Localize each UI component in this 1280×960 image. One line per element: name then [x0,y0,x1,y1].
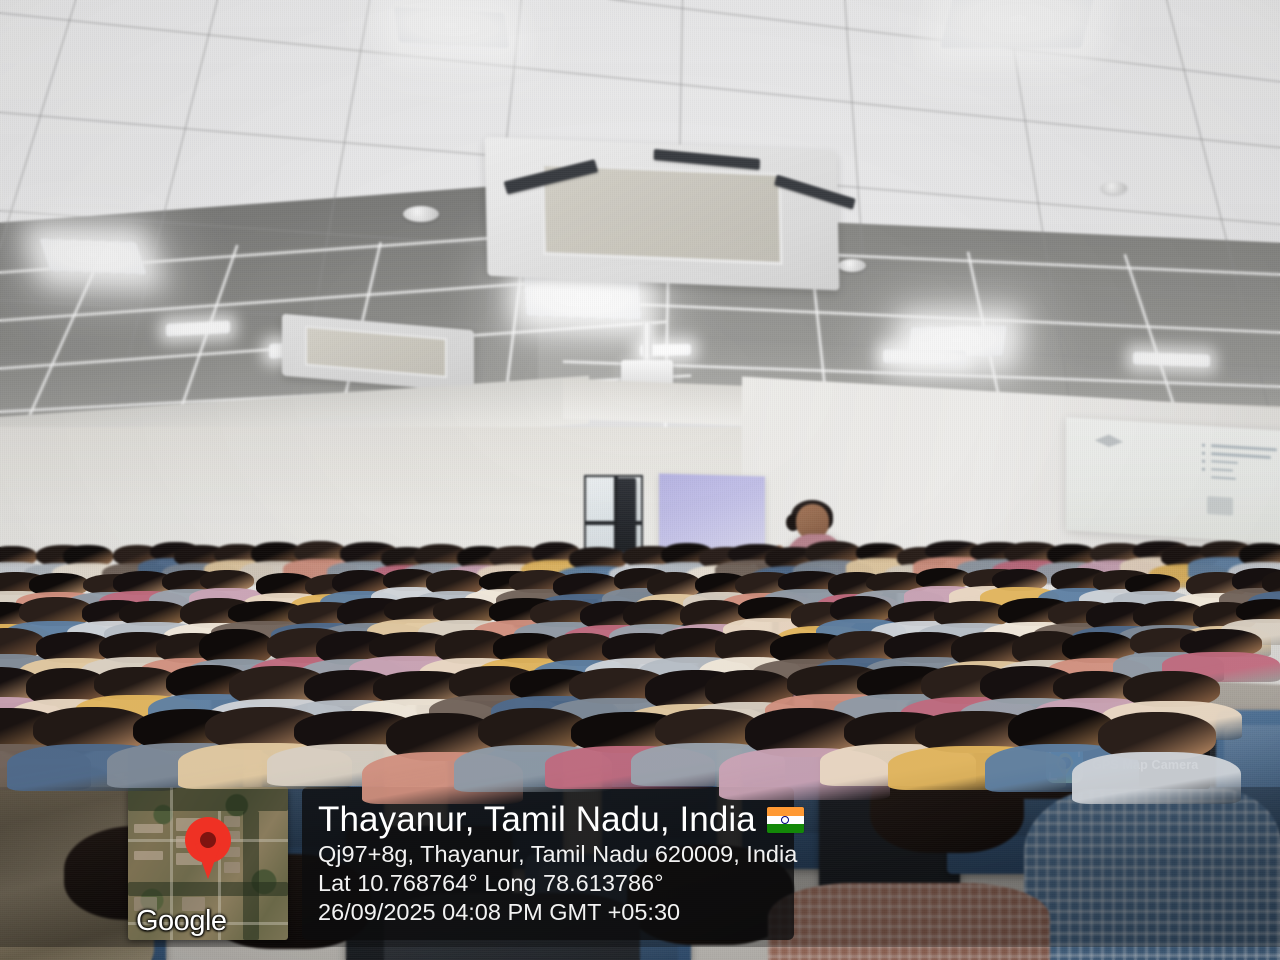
projection-screen-right [1066,417,1280,544]
location-title-row: Thayanur, Tamil Nadu, India [318,800,778,840]
location-address: Qj97+8g, Thayanur, Tamil Nadu 620009, In… [318,840,778,869]
attendee-plaid-shirt [1024,787,1280,960]
map-thumbnail[interactable]: Google [128,787,288,940]
gps-location-stamp: Google Thayanur, Tamil Nadu, India Qj97+… [128,787,794,940]
location-coordinates: Lat 10.768764° Long 78.613786° [318,869,778,898]
location-title: Thayanur, Tamil Nadu, India [318,800,756,840]
google-watermark: Google [136,905,227,938]
attendee-plaid-shirt [768,883,1050,960]
india-flag-icon [767,807,804,833]
map-pin-icon [185,817,231,879]
ceiling-projector-mount-front [621,323,673,385]
slide-graduation-cap-icon [1095,434,1124,451]
ceiling-cassette-ac-unit [485,137,840,291]
location-timestamp: 26/09/2025 04:08 PM GMT +05:30 [318,898,778,927]
photo-canvas: GPS Map Camera [0,0,1280,960]
location-info-panel: Thayanur, Tamil Nadu, India Qj97+8g, Tha… [302,787,794,940]
attendee [1098,712,1216,795]
